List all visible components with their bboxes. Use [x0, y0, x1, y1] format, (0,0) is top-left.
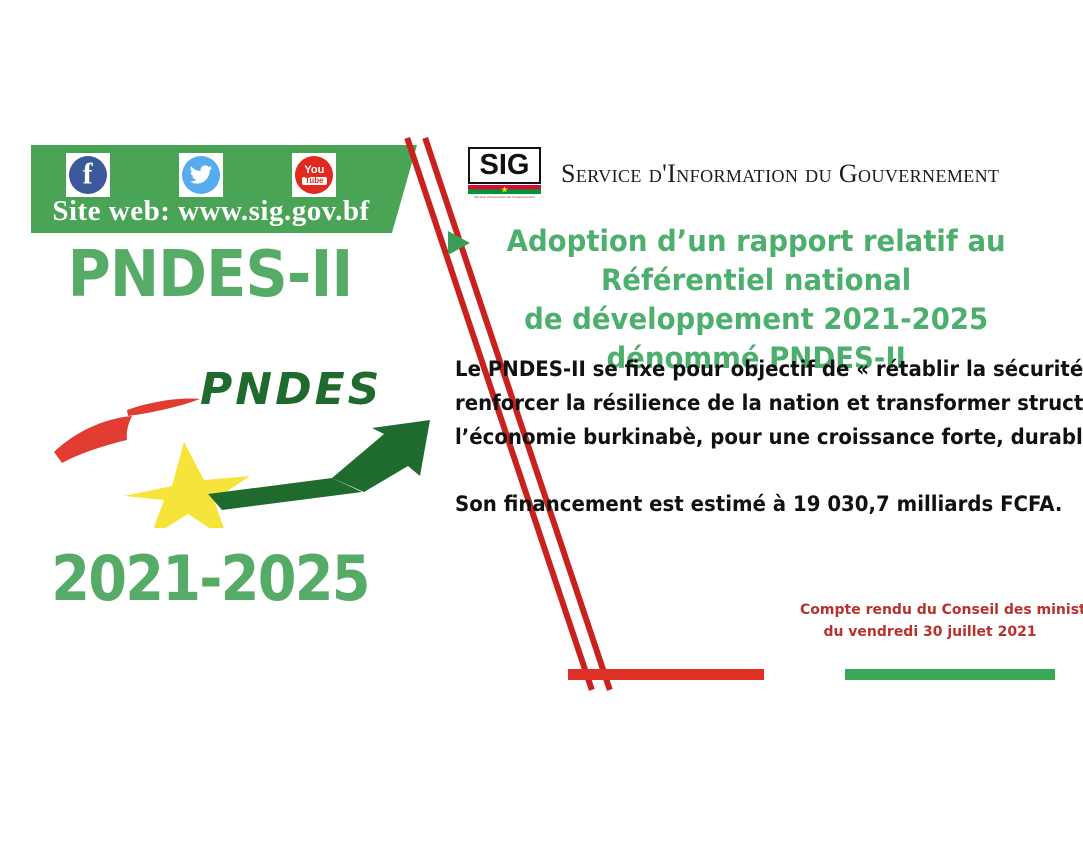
sig-logo: SIG ★ Service d'Information du Gouvernem…: [468, 147, 541, 199]
pndes-emblem: PNDES: [32, 368, 452, 528]
sig-header: SIG ★ Service d'Information du Gouvernem…: [468, 147, 999, 199]
page-years-range: 2021-2025: [48, 548, 372, 610]
headline-line-1: Adoption d’un rapport relatif au Référen…: [507, 224, 1006, 297]
source-note-line-2: du vendredi 30 juillet 2021: [800, 622, 1060, 644]
sig-logo-subline: Service d'Information du Gouvernement: [468, 195, 541, 199]
social-banner: You Tube Site web: www.sig.gov.bf: [31, 145, 417, 233]
social-icons-row: You Tube: [31, 152, 371, 198]
body-line-1: Le PNDES-II se fixe pour objectif de « r…: [455, 352, 1028, 386]
youtube-glyph: You Tube: [295, 156, 333, 194]
facebook-glyph: [69, 156, 107, 194]
body-line-3: l’économie burkinabè, pour une croissanc…: [455, 420, 1028, 454]
facebook-icon[interactable]: [66, 153, 110, 197]
source-note: Compte rendu du Conseil des ministres du…: [800, 600, 1060, 643]
youtube-tube-label: Tube: [302, 177, 327, 185]
source-note-line-1: Compte rendu du Conseil des ministres: [800, 600, 1060, 622]
body-paragraph: Le PNDES-II se fixe pour objectif de « r…: [455, 352, 1028, 454]
site-web-label: Site web: www.sig.gov.bf: [31, 195, 391, 228]
twitter-glyph: [182, 156, 220, 194]
page-title-pndes: PNDES-II: [44, 243, 375, 307]
youtube-you-label: You: [304, 165, 324, 176]
burkina-faso-flag-icon: ★: [468, 185, 541, 194]
svg-text:PNDES: PNDES: [200, 368, 382, 415]
slide-canvas: You Tube Site web: www.sig.gov.bf PNDES-…: [0, 0, 1083, 845]
twitter-icon[interactable]: [179, 153, 223, 197]
body-line-2: renforcer la résilience de la nation et …: [455, 386, 1028, 420]
footer-bar-red: [568, 669, 764, 680]
sig-logo-text: SIG: [468, 147, 541, 184]
triangle-right-icon: [448, 231, 470, 255]
footer-bar-green: [845, 669, 1055, 680]
flag-star-icon: ★: [500, 185, 508, 194]
sig-header-title: Service d'Information du Gouvernement: [561, 159, 999, 189]
financing-statement: Son financement est estimé à 19 030,7 mi…: [455, 492, 1028, 516]
youtube-icon[interactable]: You Tube: [292, 153, 336, 197]
